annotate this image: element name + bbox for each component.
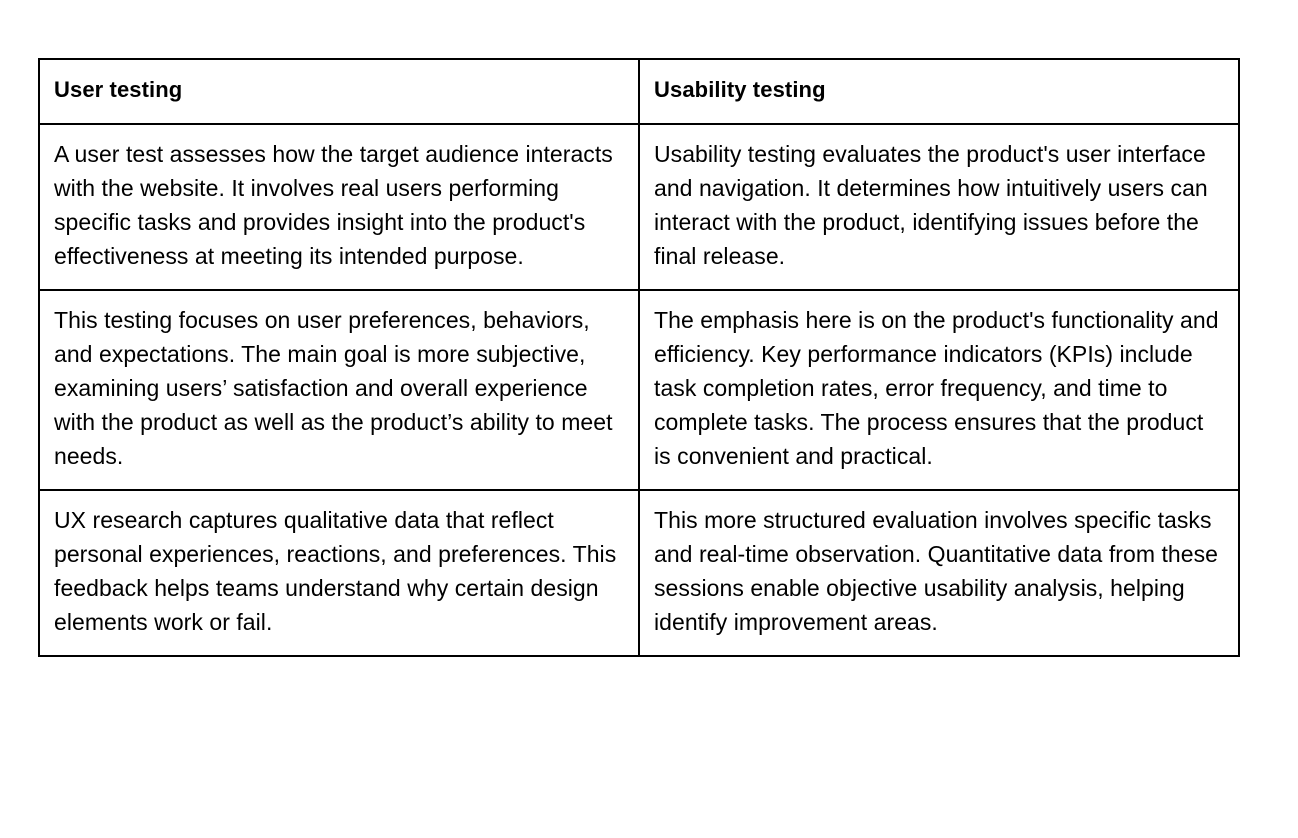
page-canvas: User testing Usability testing A user te… — [0, 0, 1298, 838]
column-header-user-testing-label: User testing — [54, 74, 624, 106]
cell-text: The emphasis here is on the product's fu… — [654, 303, 1222, 473]
column-header-user-testing: User testing — [39, 59, 639, 124]
column-header-usability-testing-label: Usability testing — [654, 74, 1224, 106]
cell-usability-testing-data: This more structured evaluation involves… — [639, 490, 1239, 656]
comparison-table: User testing Usability testing A user te… — [38, 58, 1240, 657]
table-header: User testing Usability testing — [39, 59, 1239, 124]
cell-text: UX research captures qualitative data th… — [54, 503, 622, 639]
cell-text: This more structured evaluation involves… — [654, 503, 1222, 639]
table-row: UX research captures qualitative data th… — [39, 490, 1239, 656]
cell-user-testing-focus: This testing focuses on user preferences… — [39, 290, 639, 490]
cell-usability-testing-definition: Usability testing evaluates the product'… — [639, 124, 1239, 290]
comparison-table-container: User testing Usability testing A user te… — [38, 58, 1238, 657]
cell-usability-testing-focus: The emphasis here is on the product's fu… — [639, 290, 1239, 490]
column-header-usability-testing: Usability testing — [639, 59, 1239, 124]
table-header-row: User testing Usability testing — [39, 59, 1239, 124]
table-body: A user test assesses how the target audi… — [39, 124, 1239, 656]
cell-text: This testing focuses on user preferences… — [54, 303, 622, 473]
cell-user-testing-data: UX research captures qualitative data th… — [39, 490, 639, 656]
cell-text: A user test assesses how the target audi… — [54, 137, 622, 273]
cell-text: Usability testing evaluates the product'… — [654, 137, 1222, 273]
table-row: This testing focuses on user preferences… — [39, 290, 1239, 490]
cell-user-testing-definition: A user test assesses how the target audi… — [39, 124, 639, 290]
table-row: A user test assesses how the target audi… — [39, 124, 1239, 290]
